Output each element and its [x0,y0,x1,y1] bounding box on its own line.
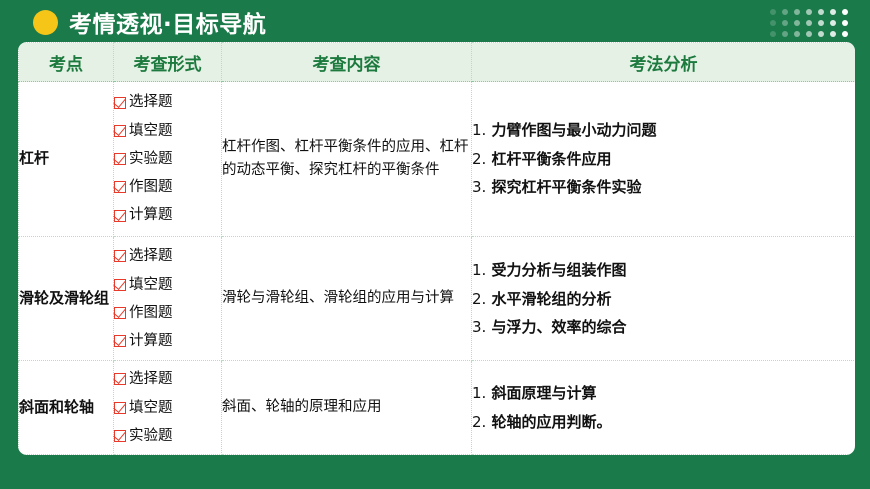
decorative-dot [842,9,848,15]
decorative-dot [806,31,812,37]
decorative-dot [794,31,800,37]
checkbox-item[interactable]: 作图题 [114,173,221,201]
checkbox-item[interactable]: 实验题 [114,145,221,173]
checkbox-label: 选择题 [129,88,173,116]
checkbox-checked-icon [114,307,126,319]
decorative-dot [830,20,836,26]
analysis-item-number: 2. [472,413,486,431]
table-row: 斜面和轮轴选择题填空题实验题斜面、轮轴的原理和应用1. 斜面原理与计算2. 轮轴… [19,361,856,455]
cell-exam-analysis: 1. 力臂作图与最小动力问题2. 杠杆平衡条件应用3. 探究杠杆平衡条件实验 [472,82,856,237]
decorative-dot [818,31,824,37]
analysis-list-item: 2. 水平滑轮组的分析 [472,285,855,314]
checkbox-item[interactable]: 选择题 [114,88,221,116]
cell-exam-form: 选择题填空题实验题 [114,361,222,455]
decorative-dot [830,9,836,15]
decorative-dot [818,20,824,26]
checkbox-label: 实验题 [129,422,173,450]
decorative-dot [782,20,788,26]
checkbox-item[interactable]: 实验题 [114,422,221,450]
analysis-list-item: 1. 力臂作图与最小动力问题 [472,116,855,145]
decorative-dot [770,31,776,37]
cell-exam-point: 滑轮及滑轮组 [19,237,114,361]
checkbox-checked-icon [114,250,126,262]
cell-exam-content: 杠杆作图、杠杆平衡条件的应用、杠杆的动态平衡、探究杠杆的平衡条件 [222,82,472,237]
cell-exam-form: 选择题填空题实验题作图题计算题 [114,82,222,237]
table-row: 杠杆选择题填空题实验题作图题计算题杠杆作图、杠杆平衡条件的应用、杠杆的动态平衡、… [19,82,856,237]
checkbox-checked-icon [114,210,126,222]
decorative-dot [770,9,776,15]
cell-exam-point: 斜面和轮轴 [19,361,114,455]
cell-exam-form: 选择题填空题作图题计算题 [114,237,222,361]
exam-overview-table: 考点 考查形式 考查内容 考法分析 杠杆选择题填空题实验题作图题计算题杠杆作图、… [18,42,855,455]
decorative-dot [818,9,824,15]
dot-row [770,9,848,15]
analysis-list-item: 1. 斜面原理与计算 [472,379,855,408]
table-header-row: 考点 考查形式 考查内容 考法分析 [19,43,856,82]
column-header-form: 考查形式 [114,43,222,82]
decorative-dot [794,9,800,15]
analysis-item-text: 斜面原理与计算 [486,384,596,402]
checkbox-label: 实验题 [129,145,173,173]
checkbox-label: 填空题 [129,394,173,422]
checkbox-item[interactable]: 选择题 [114,242,221,270]
analysis-item-number: 2. [472,290,486,308]
dot-row [770,20,848,26]
checkbox-item[interactable]: 作图题 [114,299,221,327]
checkbox-checked-icon [114,402,126,414]
analysis-item-number: 3. [472,178,486,196]
bullet-circle-icon [33,10,58,35]
decorative-dot [842,31,848,37]
table-row: 滑轮及滑轮组选择题填空题作图题计算题滑轮与滑轮组、滑轮组的应用与计算1. 受力分… [19,237,856,361]
checkbox-checked-icon [114,335,126,347]
cell-exam-content: 斜面、轮轴的原理和应用 [222,361,472,455]
checkbox-checked-icon [114,373,126,385]
decorative-dot [806,20,812,26]
checkbox-label: 填空题 [129,117,173,145]
checkbox-checked-icon [114,153,126,165]
analysis-list-item: 2. 杠杆平衡条件应用 [472,145,855,174]
checkbox-label: 填空题 [129,271,173,299]
analysis-item-number: 1. [472,384,486,402]
column-header-analysis: 考法分析 [472,43,856,82]
checkbox-checked-icon [114,430,126,442]
analysis-list-item: 2. 轮轴的应用判断。 [472,408,855,437]
analysis-item-text: 水平滑轮组的分析 [486,290,611,308]
decorative-dot [806,9,812,15]
analysis-item-text: 轮轴的应用判断。 [486,413,611,431]
checkbox-label: 选择题 [129,242,173,270]
checkbox-item[interactable]: 填空题 [114,271,221,299]
cell-exam-analysis: 1. 斜面原理与计算2. 轮轴的应用判断。 [472,361,856,455]
page-header: 考情透视·目标导航 [0,0,870,44]
checkbox-checked-icon [114,181,126,193]
analysis-list-item: 3. 探究杠杆平衡条件实验 [472,173,855,202]
column-header-point: 考点 [19,43,114,82]
checkbox-label: 作图题 [129,173,173,201]
cell-exam-content: 滑轮与滑轮组、滑轮组的应用与计算 [222,237,472,361]
analysis-item-number: 1. [472,261,486,279]
decorative-dot [794,20,800,26]
checkbox-checked-icon [114,279,126,291]
analysis-list-item: 1. 受力分析与组装作图 [472,256,855,285]
table-header: 考点 考查形式 考查内容 考法分析 [19,43,856,82]
checkbox-item[interactable]: 计算题 [114,327,221,355]
cell-exam-analysis: 1. 受力分析与组装作图2. 水平滑轮组的分析3. 与浮力、效率的综合 [472,237,856,361]
checkbox-label: 计算题 [129,327,173,355]
content-card: 考点 考查形式 考查内容 考法分析 杠杆选择题填空题实验题作图题计算题杠杆作图、… [18,42,855,455]
checkbox-item[interactable]: 计算题 [114,201,221,229]
decorative-dot [782,31,788,37]
analysis-item-text: 力臂作图与最小动力问题 [486,121,656,139]
decorative-dot [830,31,836,37]
checkbox-label: 作图题 [129,299,173,327]
decorative-dot [770,20,776,26]
checkbox-item[interactable]: 填空题 [114,394,221,422]
cell-exam-point: 杠杆 [19,82,114,237]
analysis-item-text: 探究杠杆平衡条件实验 [486,178,641,196]
checkbox-checked-icon [114,125,126,137]
checkbox-item[interactable]: 选择题 [114,365,221,393]
analysis-list-item: 3. 与浮力、效率的综合 [472,313,855,342]
table-body: 杠杆选择题填空题实验题作图题计算题杠杆作图、杠杆平衡条件的应用、杠杆的动态平衡、… [19,82,856,455]
analysis-item-text: 受力分析与组装作图 [486,261,626,279]
checkbox-checked-icon [114,97,126,109]
column-header-content: 考查内容 [222,43,472,82]
analysis-item-number: 2. [472,150,486,168]
analysis-item-text: 杠杆平衡条件应用 [486,150,611,168]
decorative-dot [782,9,788,15]
checkbox-label: 计算题 [129,201,173,229]
analysis-item-text: 与浮力、效率的综合 [486,318,626,336]
decorative-dot [842,20,848,26]
decorative-dot-grid [770,9,848,37]
checkbox-item[interactable]: 填空题 [114,117,221,145]
analysis-item-number: 3. [472,318,486,336]
checkbox-label: 选择题 [129,365,173,393]
analysis-item-number: 1. [472,121,486,139]
page-title: 考情透视·目标导航 [69,5,266,39]
dot-row [770,31,848,37]
